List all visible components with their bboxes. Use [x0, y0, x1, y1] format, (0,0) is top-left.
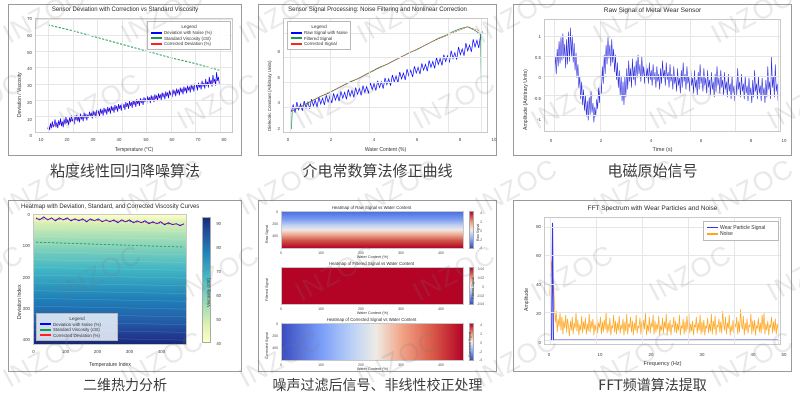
chart-panel[interactable]: Sensor Signal Processing: Noise Filterin…	[258, 4, 497, 156]
y-axis-label: Amplitude	[524, 288, 530, 311]
colorbar-tick: 4	[480, 323, 482, 327]
colorbar-tick: 0.04	[478, 267, 484, 271]
colorbar-label: Corrected Signal	[468, 332, 472, 357]
chart-panel[interactable]: Heatmap with Deviation, Standard, and Co…	[8, 200, 242, 372]
x-axis-label: Water Content (%)	[281, 255, 464, 259]
x-tick: 30	[695, 352, 709, 357]
x-tick: 0	[542, 352, 556, 357]
legend-swatch-standard	[151, 37, 162, 39]
y-tick: 200	[11, 275, 30, 280]
colorbar-tick: 0	[482, 285, 484, 289]
chart-title: Sensor Deviation with Correction vs Stan…	[9, 7, 241, 13]
legend-item: Corrected Deviation (%)	[151, 41, 227, 46]
legend-label: Deviation with Noise (%)	[164, 30, 212, 35]
colorbar-tick: 0.02	[478, 276, 484, 280]
y-tick: 1	[518, 34, 541, 39]
y-axis-label: Filtered Signal	[265, 278, 269, 301]
y-axis-label: Amplitude (Arbitrary Units)	[523, 69, 529, 130]
legend-item: Filtered Signal	[291, 36, 347, 41]
legend-swatch-corrected	[40, 334, 51, 336]
panel-caption: 二维热力分析	[83, 379, 167, 394]
colorbar-tick: 4	[480, 211, 482, 215]
subchart-title: Heatmap of Corrected Signal vs Water Con…	[277, 317, 466, 322]
colorbar-tick: 50	[216, 317, 221, 322]
y-tick: 400	[11, 337, 30, 342]
x-tick: 10	[34, 137, 48, 142]
panel-dielectric-correction: Sensor Signal Processing: Noise Filterin…	[250, 0, 505, 196]
colorbar-tick: 80	[216, 245, 221, 250]
y-tick: 8	[261, 49, 280, 54]
x-tick: 8	[744, 138, 758, 143]
y-tick: 40	[520, 282, 541, 287]
x-tick: 2	[594, 138, 608, 143]
legend-label: Corrected Deviation (%)	[53, 333, 100, 338]
x-tick: 60	[165, 137, 179, 142]
panel-fft-spectrum: FFT Spectrum with Wear Particles and Noi…	[505, 196, 800, 412]
y-tick: 0	[520, 340, 541, 345]
chart-legend[interactable]: Legend Raw Signal with Noise Filtered Si…	[287, 21, 351, 50]
legend-swatch-deviation	[151, 32, 162, 34]
x-tick: 10	[488, 137, 500, 142]
legend-item: Deviation with Noise (%)	[40, 322, 114, 327]
legend-label: Corrected Deviation (%)	[164, 41, 211, 46]
chart-legend[interactable]: Wear Particle Signal Noise	[703, 221, 779, 241]
legend-label: Wear Particle Signal	[720, 225, 765, 231]
colorbar-tick: 0	[480, 341, 482, 345]
colorbar-tick: -0.04	[477, 302, 484, 306]
panel-heatmap-viscosity: Heatmap with Deviation, Standard, and Co…	[0, 196, 250, 412]
legend-label: Filtered Signal	[304, 36, 332, 41]
legend-label: Deviation with Noise (%)	[53, 322, 101, 327]
x-tick: 80	[217, 137, 231, 142]
legend-title: Legend	[151, 24, 227, 29]
legend-item: Raw Signal with Noise	[291, 30, 347, 35]
colorbar-tick: -0.02	[477, 294, 484, 298]
legend-swatch-filtered	[291, 37, 302, 39]
y-tick: 100	[11, 243, 30, 248]
panel-caption: 介电常数算法修正曲线	[302, 163, 452, 180]
legend-label: Raw Signal with Noise	[304, 30, 348, 35]
x-tick: 300	[123, 349, 136, 354]
x-tick: 0	[544, 138, 558, 143]
x-tick: 50	[777, 352, 791, 357]
legend-swatch-raw	[291, 32, 302, 34]
x-tick: 30	[86, 137, 100, 142]
y-tick: -0.5	[518, 96, 541, 101]
x-tick: 40	[112, 137, 126, 142]
y-tick: 60	[520, 253, 541, 258]
x-axis-label: Temperature (°C)	[35, 147, 233, 153]
colorbar-tick: 70	[216, 269, 221, 274]
x-tick: 70	[191, 137, 205, 142]
x-tick: 4	[368, 137, 380, 142]
colorbar-tick: 90	[216, 221, 221, 226]
colorbar-tick: 40	[216, 341, 221, 346]
y-tick: 70	[11, 16, 32, 21]
legend-item: Noise	[707, 231, 775, 237]
x-tick: 10	[593, 352, 607, 357]
y-tick: 0.5	[518, 55, 541, 60]
panel-caption: 粘度线性回归降噪算法	[50, 163, 200, 180]
legend-label: Noise	[720, 231, 733, 237]
colorbar-tick: -4	[479, 246, 482, 250]
chart-panel[interactable]: Sensor Deviation with Correction vs Stan…	[8, 4, 242, 156]
x-tick: 100	[59, 349, 72, 354]
panel-caption: 噪声过滤后信号、非线性校正处理	[273, 379, 483, 394]
legend-label: Standard Viscosity (cSt)	[53, 327, 100, 332]
y-tick: 60	[11, 33, 32, 38]
legend-swatch-corrected	[151, 43, 162, 45]
colorbar-tick: 2	[480, 220, 482, 224]
colorbar-tick: -4	[479, 358, 482, 362]
y-axis-label: Corrected Signal	[265, 332, 269, 359]
x-tick: 8	[454, 137, 466, 142]
y-axis-label: Raw Signal	[265, 225, 269, 243]
legend-item: Standard Viscosity (cSt)	[40, 327, 114, 332]
y-tick: 80	[520, 224, 541, 229]
legend-title: Legend	[291, 24, 347, 29]
subchart-title: Heatmap of Raw Signal vs Water Content	[277, 205, 466, 210]
legend-label: Corrected Signal	[304, 41, 337, 46]
panel-viscosity-regression: Sensor Deviation with Correction vs Stan…	[0, 0, 250, 196]
panel-caption: 电磁原始信号	[607, 163, 697, 180]
x-tick: 10	[777, 138, 791, 143]
x-tick: 20	[60, 137, 74, 142]
colorbar-label: Filtered Signal	[471, 277, 475, 299]
x-axis-label: Frequency (Hz)	[544, 361, 781, 367]
y-axis-label: Deviation Index	[17, 285, 23, 319]
chart-legend[interactable]: Legend Deviation with Noise (%) Standard…	[147, 21, 231, 50]
x-axis-label: Time (s)	[544, 147, 781, 153]
x-axis-label: Temperature Index	[33, 362, 187, 368]
y-tick: 0	[11, 133, 32, 138]
panel-caption: FFT频谱算法提取	[598, 379, 706, 394]
subchart-title: Heatmap of Filtered Signal vs Water Cont…	[277, 261, 466, 266]
y-tick: 50	[11, 50, 32, 55]
chart-title: FFT Spectrum with Wear Particles and Noi…	[514, 205, 791, 212]
panel-raw-wear-signal: Raw Signal of Metal Wear Sensor 1 0.5 0 …	[505, 0, 800, 196]
y-tick: 20	[520, 311, 541, 316]
colorbar	[469, 211, 474, 249]
x-tick: 4	[644, 138, 658, 143]
chart-panel[interactable]: FFT Spectrum with Wear Particles and Noi…	[513, 200, 792, 372]
colorbar-tick: 2	[480, 332, 482, 336]
y-tick: 0	[265, 322, 278, 326]
y-tick: 0	[265, 210, 278, 214]
chart-title: Sensor Signal Processing: Noise Filterin…	[259, 7, 496, 13]
x-tick: 40	[746, 352, 760, 357]
legend-label: Standard Viscosity (cSt)	[164, 36, 211, 41]
chart-title: Heatmap with Deviation, Standard, and Co…	[21, 204, 211, 210]
y-tick: 0	[11, 212, 30, 217]
chart-grid: Sensor Deviation with Correction vs Stan…	[0, 0, 800, 412]
colorbar-tick: -2	[479, 350, 482, 354]
legend-item: Wear Particle Signal	[707, 225, 775, 231]
x-axis-label: Water Content (%)	[281, 311, 464, 315]
chart-title: Raw Signal of Metal Wear Sensor	[514, 7, 791, 14]
heatmap-surface-filtered	[281, 267, 464, 305]
legend-item: Standard Viscosity (cSt)	[151, 36, 227, 41]
x-tick: 50	[139, 137, 153, 142]
chart-panel[interactable]: Raw Signal of Metal Wear Sensor 1 0.5 0 …	[513, 4, 792, 156]
legend-swatch-wear-particle	[707, 227, 718, 229]
colorbar-label: Raw Signal	[476, 224, 480, 241]
y-axis-label: Deviation / Viscosity	[17, 72, 23, 117]
legend-item: Deviation with Noise (%)	[151, 30, 227, 35]
y-tick: 40	[11, 66, 32, 71]
panel-signal-heatmaps: Heatmap of Raw Signal vs Water Content 0…	[250, 196, 505, 412]
y-tick: 0	[518, 75, 541, 80]
colorbar-tick: 60	[216, 293, 221, 298]
x-tick: 400	[155, 349, 168, 354]
y-axis-label: Dielectric Constant (Arbitrary Units)	[267, 60, 272, 131]
x-axis-label: Water Content (%)	[281, 367, 464, 371]
x-tick: 0	[282, 137, 294, 142]
x-tick: 2	[325, 137, 337, 142]
x-tick: 20	[644, 352, 658, 357]
heatmap-surface-raw	[281, 211, 464, 249]
x-tick: 0	[27, 349, 40, 354]
legend-item: Corrected Signal	[291, 41, 347, 46]
chart-legend[interactable]: Legend Deviation with Noise (%) Standard…	[36, 313, 118, 342]
legend-swatch-corrected	[291, 43, 302, 45]
y-tick: -1	[518, 117, 541, 122]
heatmap-surface-corrected	[281, 323, 464, 361]
y-tick: 10	[11, 117, 32, 122]
legend-swatch-deviation	[40, 323, 51, 325]
colorbar-label: Viscosity (cSt)	[206, 278, 211, 307]
legend-item: Corrected Deviation (%)	[40, 333, 114, 338]
colorbar-tick: 0	[480, 229, 482, 233]
chart-panel[interactable]: Heatmap of Raw Signal vs Water Content 0…	[258, 200, 497, 372]
legend-title: Legend	[40, 316, 114, 321]
legend-swatch-noise	[707, 233, 718, 235]
x-tick: 6	[694, 138, 708, 143]
x-axis-label: Water Content (%)	[283, 147, 488, 153]
x-tick: 6	[411, 137, 423, 142]
legend-swatch-standard	[40, 329, 51, 331]
x-tick: 200	[91, 349, 104, 354]
